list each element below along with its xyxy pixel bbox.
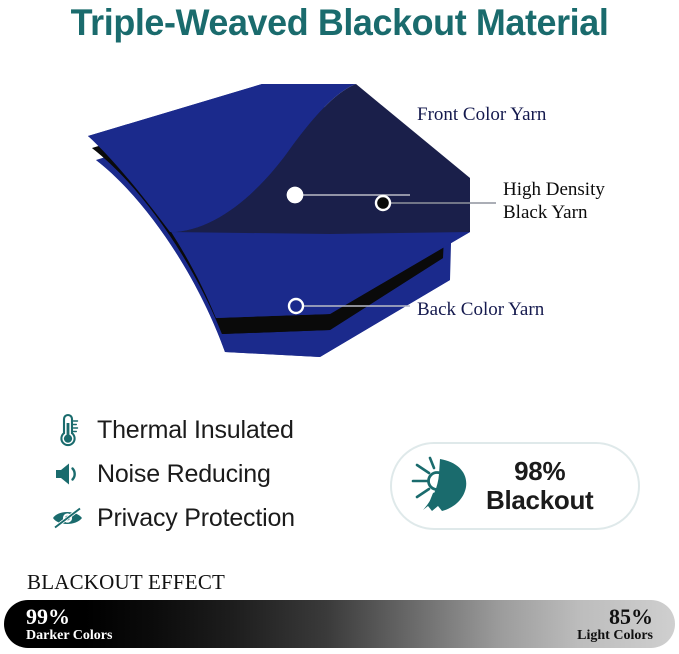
effect-left-label: Darker Colors bbox=[26, 628, 112, 644]
effect-right-percent: 85% bbox=[577, 605, 653, 628]
feature-label: Thermal Insulated bbox=[97, 416, 294, 445]
badge-percent: 98% bbox=[514, 456, 565, 486]
circle-marker bbox=[289, 299, 303, 313]
effect-light-colors: 85% Light Colors bbox=[577, 605, 653, 644]
effect-left-percent: 99% bbox=[26, 605, 112, 628]
effect-right-label: Light Colors bbox=[577, 628, 653, 644]
feature-list: Thermal Insulated Noise Reducing Privacy… bbox=[48, 408, 378, 540]
blackout-effect-bar: 99% Darker Colors 85% Light Colors bbox=[4, 600, 675, 648]
badge-label: Blackout bbox=[486, 485, 593, 515]
blackout-effect-heading: BLACKOUT EFFECT bbox=[27, 570, 225, 595]
callout-label-back: Back Color Yarn bbox=[417, 298, 544, 321]
callout-label-middle-line1: High Density bbox=[503, 179, 605, 200]
feature-noise-reducing: Noise Reducing bbox=[48, 452, 378, 496]
effect-darker-colors: 99% Darker Colors bbox=[26, 605, 112, 644]
sun-behind-curtain-icon bbox=[406, 455, 478, 517]
callout-label-middle-line2: Black Yarn bbox=[503, 202, 587, 223]
eye-slash-icon bbox=[48, 500, 88, 536]
feature-thermal-insulated: Thermal Insulated bbox=[48, 408, 378, 452]
thermometer-icon bbox=[48, 412, 88, 448]
badge-text: 98% Blackout bbox=[486, 457, 593, 515]
feature-label: Privacy Protection bbox=[97, 504, 295, 533]
callout-label-middle: High Density Black Yarn bbox=[503, 178, 605, 224]
callout-label-front: Front Color Yarn bbox=[417, 103, 546, 126]
feature-label: Noise Reducing bbox=[97, 460, 271, 489]
page-title: Triple-Weaved Blackout Material bbox=[10, 2, 669, 44]
speaker-sound-icon bbox=[48, 456, 88, 492]
blackout-badge: 98% Blackout bbox=[390, 442, 640, 530]
feature-privacy-protection: Privacy Protection bbox=[48, 496, 378, 540]
circle-marker bbox=[376, 196, 390, 210]
